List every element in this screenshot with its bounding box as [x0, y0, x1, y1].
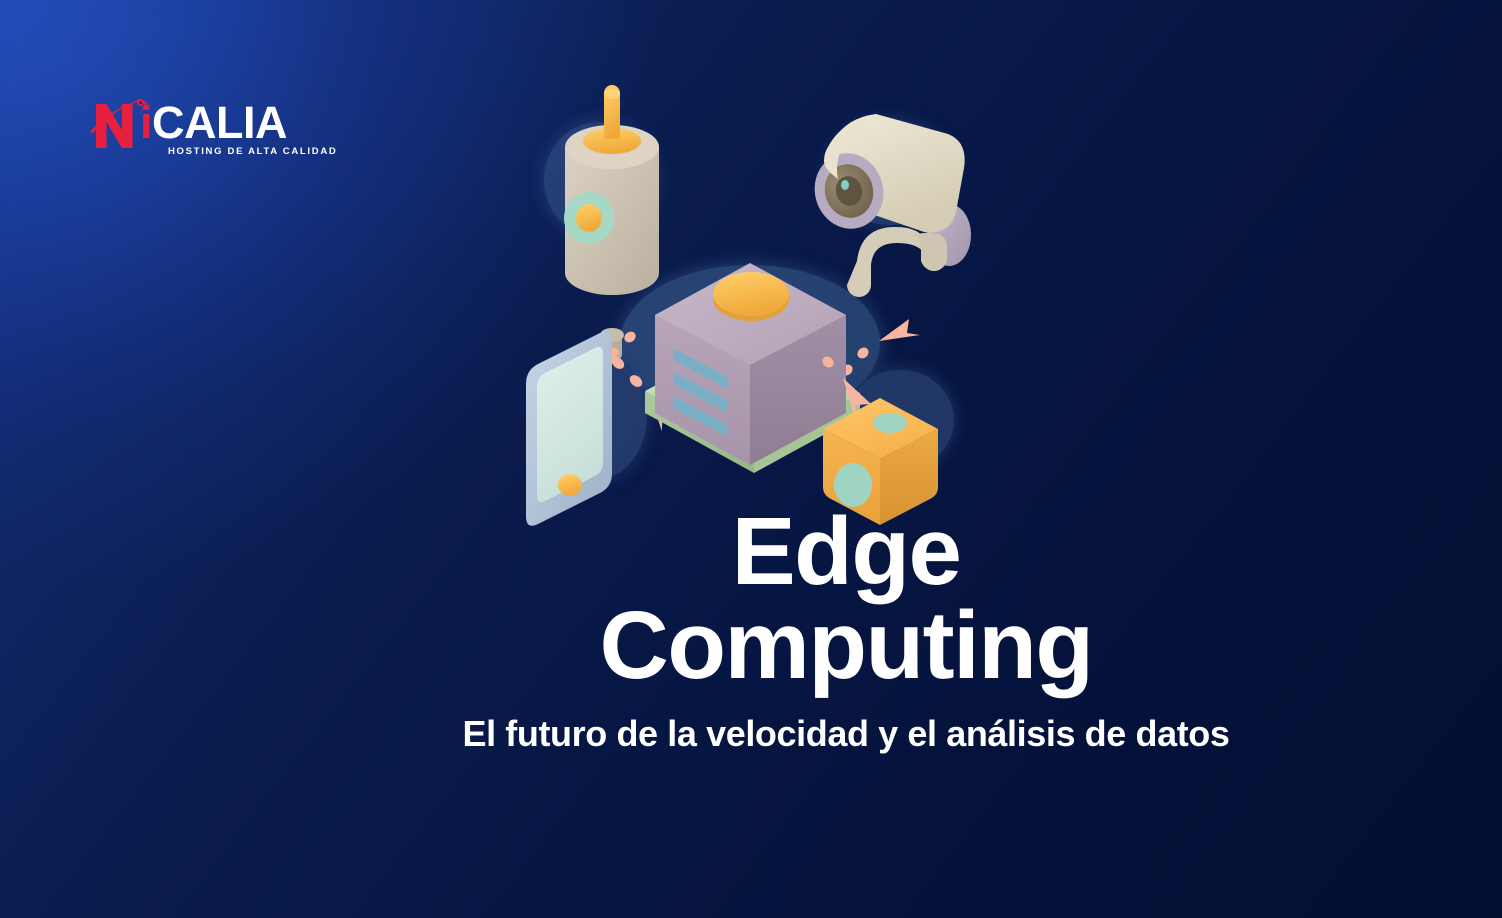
hero-text-block: EdgeComputing El futuro de la velocidad … — [0, 505, 1502, 755]
smartphone-icon — [526, 331, 612, 526]
page-title: EdgeComputing — [0, 505, 1502, 693]
page-subtitle: El futuro de la velocidad y el análisis … — [0, 713, 1502, 755]
security-camera-icon — [806, 114, 971, 297]
brand-logo[interactable]: iCALIA HOSTING DE ALTA CALIDAD — [88, 96, 308, 174]
edge-computing-illustration — [505, 85, 995, 505]
title-line-1: Edge — [732, 498, 961, 605]
brand-tagline: HOSTING DE ALTA CALIDAD — [168, 146, 337, 157]
brand-wordmark-i: i — [140, 97, 152, 148]
brand-wordmark-rest: CALIA — [152, 97, 287, 148]
brand-logo-row: iCALIA — [88, 96, 308, 152]
title-line-2: Computing — [190, 599, 1502, 693]
brand-wordmark: iCALIA — [140, 95, 287, 151]
banner-root: iCALIA HOSTING DE ALTA CALIDAD — [0, 0, 1502, 918]
